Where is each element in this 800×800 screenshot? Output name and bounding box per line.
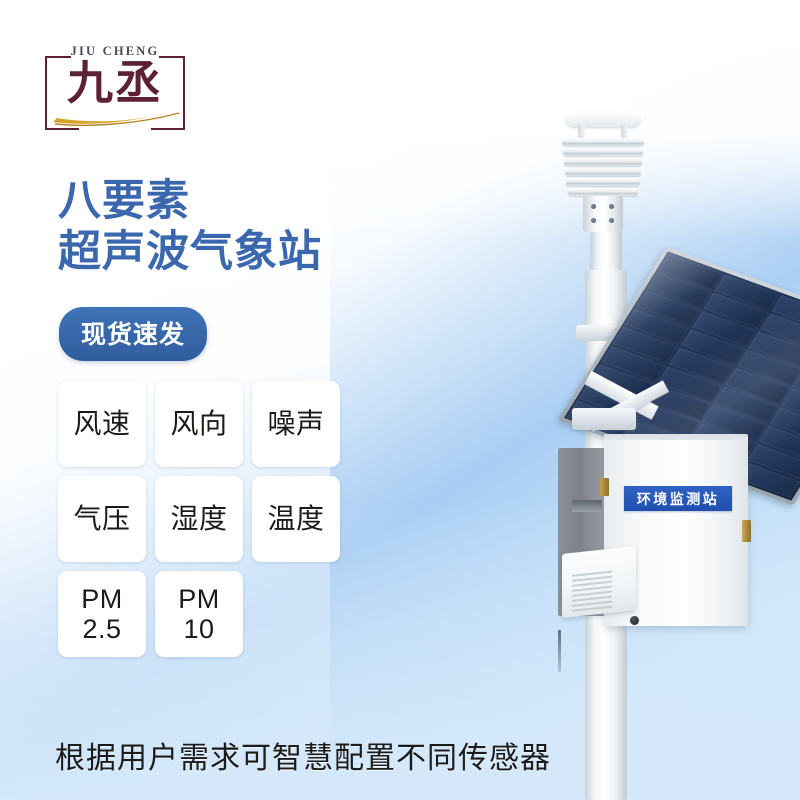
shield-louver (566, 178, 640, 186)
sensor-cable (558, 630, 561, 672)
logo-swoosh-icon (51, 106, 181, 126)
logo-chinese-text: 九丞 (45, 58, 185, 108)
cabinet-vent-grille-icon (572, 571, 612, 605)
shield-louver (568, 188, 638, 196)
sensor-screw (609, 204, 614, 209)
stock-badge: 现货速发 (59, 307, 207, 361)
pm25-line-1: PM (81, 584, 123, 614)
shield-louver (565, 168, 641, 176)
cabinet-side-vent (572, 500, 602, 512)
cabinet-hinge (600, 478, 609, 496)
cabinet-knob (630, 616, 639, 625)
feature-tag-grid: 风速 风向 噪声 气压 湿度 温度 PM 2.5 PM 10 (58, 381, 378, 666)
ultrasonic-sensor-head (548, 112, 658, 222)
feature-tag-wind-speed: 风速 (58, 381, 146, 467)
feature-tag-row: PM 2.5 PM 10 (58, 571, 378, 657)
pm25-line-2: 2.5 (82, 614, 121, 644)
feature-tag-pressure: 气压 (58, 476, 146, 562)
headline-line-1: 八要素 (58, 176, 478, 226)
cabinet-label: 环境监测站 (624, 486, 732, 511)
pm10-line-2: 10 (183, 614, 214, 644)
feature-tag-row: 气压 湿度 温度 (58, 476, 378, 562)
sensor-body (583, 196, 623, 232)
product-banner: 环境监测站 JIU CHENG 九丞 (0, 0, 800, 800)
shield-post-right (621, 125, 628, 139)
headline-block: 八要素 超声波气象站 (58, 176, 478, 278)
shield-louver (564, 158, 642, 166)
headline-line-2: 超声波气象站 (58, 226, 478, 278)
shield-post-left (578, 125, 585, 139)
pm10-line-1: PM (178, 584, 220, 614)
product-photo: 环境监测站 (440, 90, 800, 800)
feature-tag-pm25: PM 2.5 (58, 571, 146, 657)
feature-tag-row: 风速 风向 噪声 (58, 381, 378, 467)
cabinet-lower-box (562, 546, 636, 618)
cabinet-latch (742, 520, 751, 542)
feature-tag-noise: 噪声 (252, 381, 340, 467)
panel-pole-clamp (572, 408, 636, 430)
sensor-screw (609, 218, 614, 223)
sensor-screw (591, 204, 596, 209)
control-cabinet: 环境监测站 (558, 440, 748, 630)
feature-tag-pm10: PM 10 (155, 571, 243, 657)
feature-tag-temperature: 温度 (252, 476, 340, 562)
shield-louver (563, 148, 643, 156)
feature-tag-humidity: 湿度 (155, 476, 243, 562)
bottom-caption: 根据用户需求可智慧配置不同传感器 (55, 733, 551, 777)
shield-louver (562, 138, 644, 146)
brand-logo: JIU CHENG 九丞 (45, 40, 185, 132)
sensor-screw (591, 218, 596, 223)
feature-tag-wind-direction: 风向 (155, 381, 243, 467)
